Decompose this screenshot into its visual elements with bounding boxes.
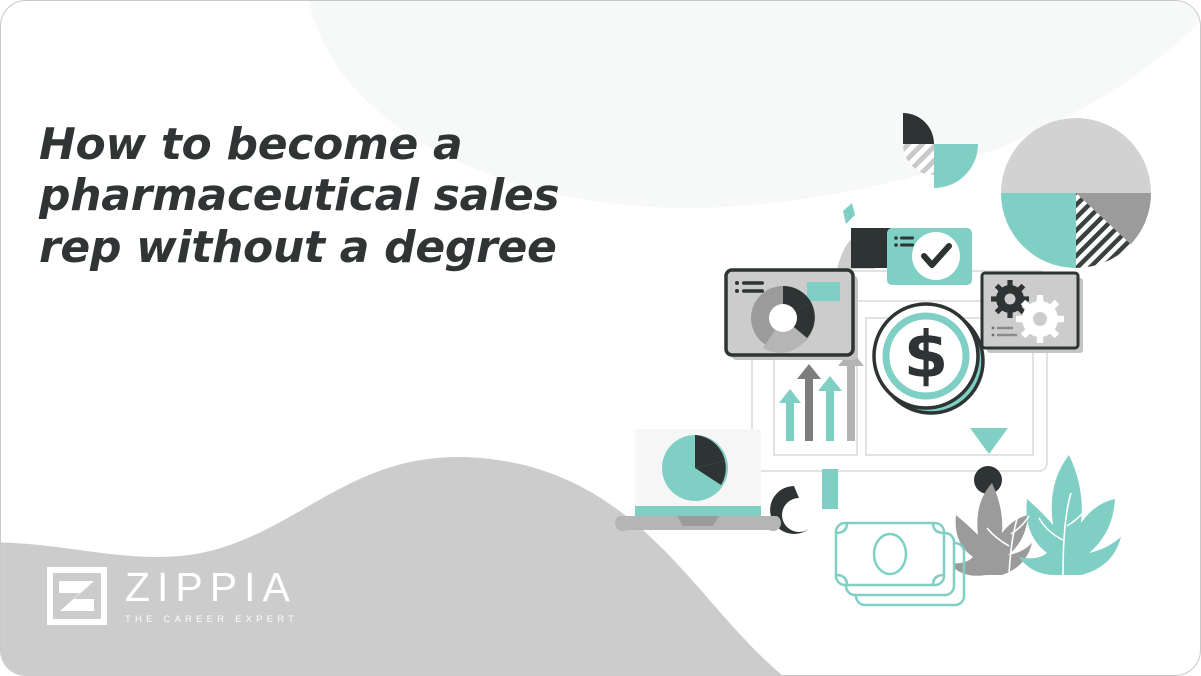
checkmark-card bbox=[887, 228, 972, 285]
teal-tag-shape bbox=[807, 282, 840, 301]
small-teal-shard-shape bbox=[843, 203, 855, 224]
logo-wordmark: ZIPPIA bbox=[125, 567, 298, 608]
pie-chart-circle bbox=[1001, 118, 1156, 273]
banknote-1 bbox=[836, 523, 944, 585]
page-title: How to become a pharmaceutical sales rep… bbox=[39, 119, 569, 273]
check-circle bbox=[912, 232, 960, 280]
dollar-symbol: $ bbox=[904, 319, 949, 393]
dark-square-shape bbox=[837, 228, 891, 269]
gears-card bbox=[982, 273, 1083, 353]
laptop-pie-chart bbox=[615, 429, 781, 531]
business-analytics-illustration: $ bbox=[611, 56, 1191, 636]
pie-chart-small bbox=[662, 435, 728, 501]
leaf-gray bbox=[949, 483, 1032, 576]
gear-icon-white bbox=[1016, 295, 1064, 343]
leaf-teal bbox=[1019, 455, 1121, 575]
logo-tagline: THE CAREER EXPERT bbox=[125, 615, 298, 625]
zippia-z-mark-icon bbox=[47, 567, 107, 625]
article-card: How to become a pharmaceutical sales rep… bbox=[0, 0, 1201, 676]
plant-leaves bbox=[949, 455, 1121, 576]
donut-chart-card bbox=[726, 270, 858, 360]
teal-bar-shape bbox=[822, 469, 838, 509]
flower-four-petal-shape bbox=[903, 113, 978, 188]
zippia-logo[interactable]: ZIPPIA THE CAREER EXPERT bbox=[47, 567, 298, 625]
banknote-stack bbox=[836, 523, 964, 605]
